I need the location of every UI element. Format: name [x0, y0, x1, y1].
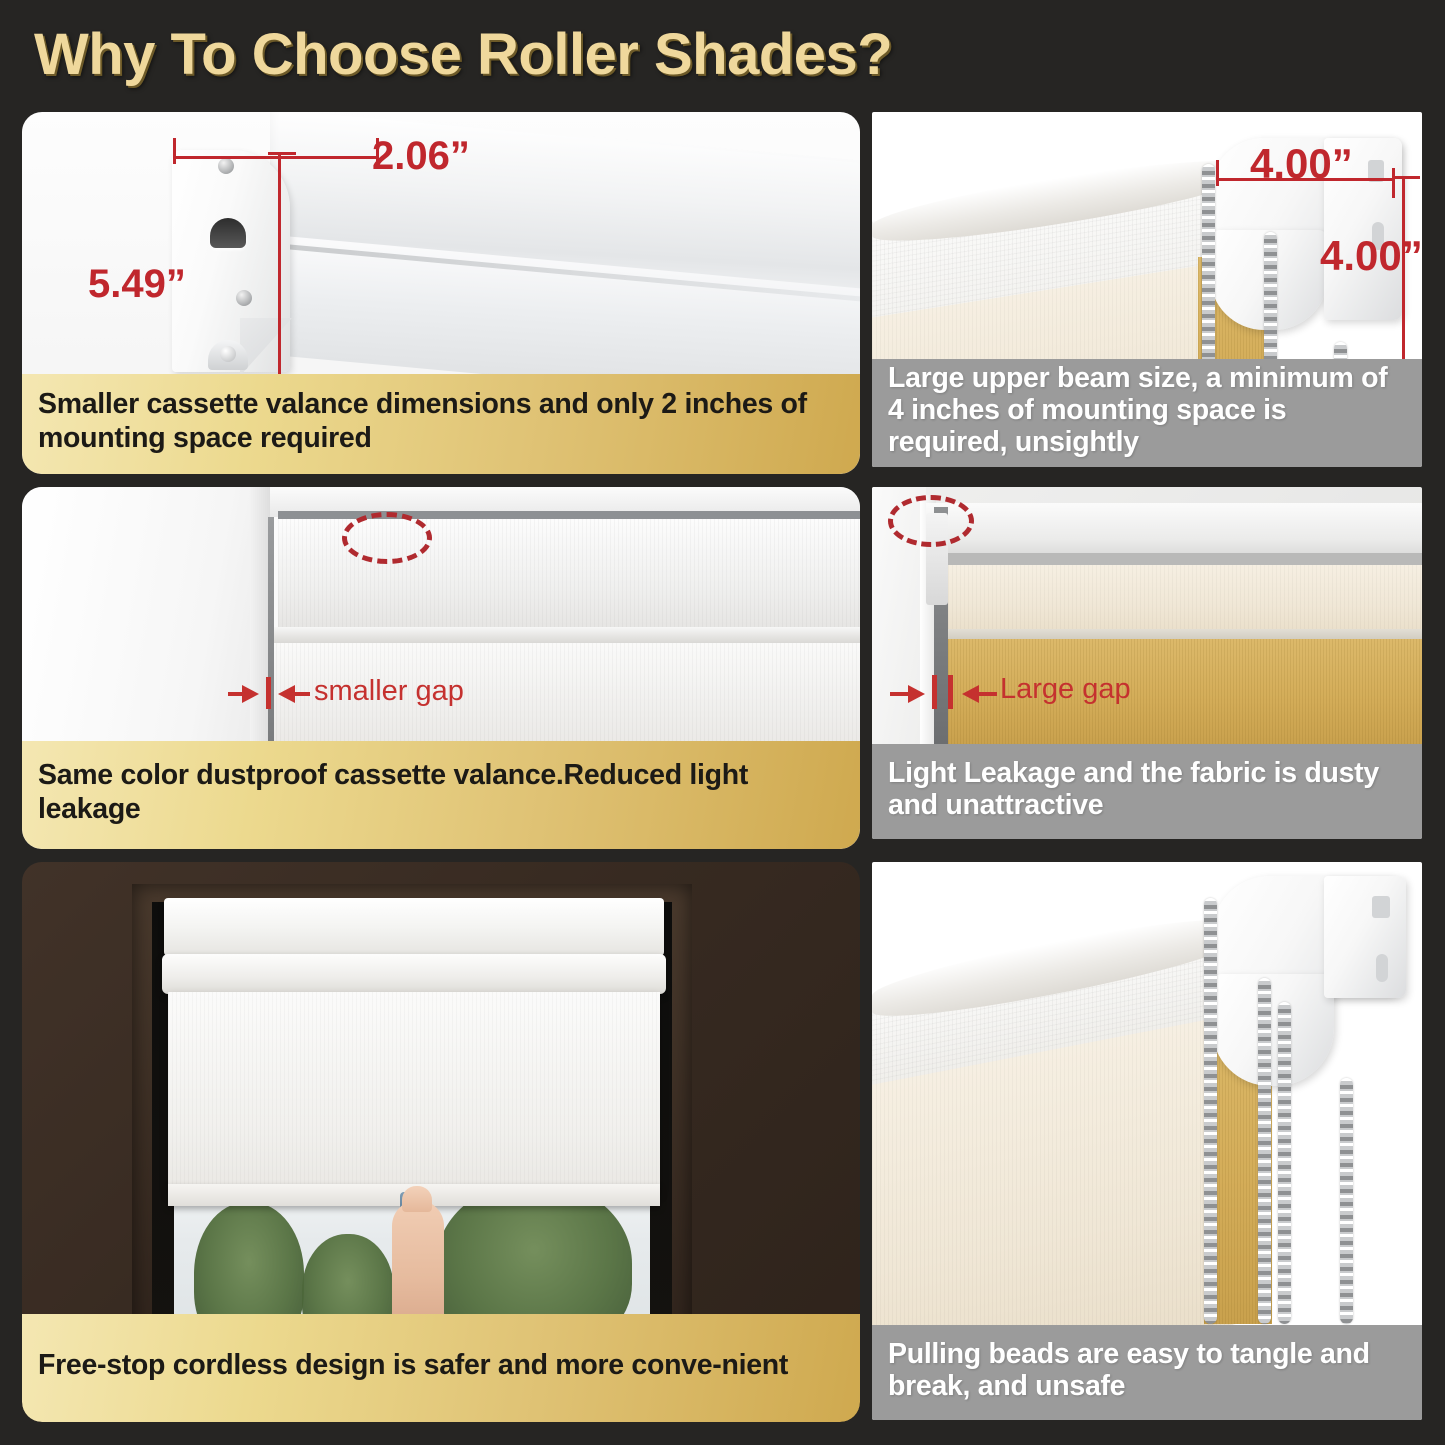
gap-arrow-left	[242, 685, 259, 703]
beam-height-tick-top	[1392, 176, 1420, 179]
gap-arrow-right	[962, 685, 979, 703]
beam-width-tick-right	[1392, 168, 1395, 198]
shade-fabric	[168, 992, 660, 1192]
caption-text: Free-stop cordless design is safer and m…	[38, 1349, 788, 1383]
caption-text: Same color dustproof cassette valance.Re…	[38, 759, 844, 826]
cream-fabric-band	[948, 565, 1422, 633]
caption-text: Pulling beads are easy to tangle and bre…	[888, 1339, 1406, 1403]
caption-text: Large upper beam size, a minimum of 4 in…	[888, 363, 1406, 459]
height-dimension-label: 5.49”	[88, 262, 186, 307]
shade-rail	[162, 954, 666, 994]
gap-arrow-left-stem	[890, 692, 910, 696]
beam-width-tick-left	[1216, 160, 1219, 186]
comparison-grid: 2.06” 5.49” Smaller cassette valance dim…	[0, 0, 1445, 1445]
gap-arrow-left	[908, 685, 925, 703]
caption-text: Light Leakage and the fabric is dusty an…	[888, 758, 1406, 822]
width-dimension-line	[174, 156, 378, 159]
gap-arrow-right-stem	[294, 692, 310, 696]
caption-con-large-upper-beam: Large upper beam size, a minimum of 4 in…	[872, 359, 1422, 467]
panel-pro-cassette-dimensions: 2.06” 5.49” Smaller cassette valance dim…	[22, 112, 860, 474]
width-dimension-label: 2.06”	[372, 134, 470, 179]
panel-con-pulling-beads: Pulling beads are easy to tangle and bre…	[872, 862, 1422, 1420]
bead-chain-left	[1204, 898, 1217, 1324]
seam-highlight-ellipse	[342, 512, 432, 564]
caption-con-light-leakage: Light Leakage and the fabric is dusty an…	[872, 744, 1422, 839]
gap-callout-label: smaller gap	[314, 675, 464, 708]
cassette-valance	[164, 898, 664, 956]
panel-con-light-leakage: Large gap Light Leakage and the fabric i…	[872, 487, 1422, 839]
beam-width-dimension-label: 4.00”	[1250, 140, 1353, 188]
bead-chain-tail	[1340, 1078, 1353, 1324]
width-dimension-tick-left	[173, 138, 176, 164]
bead-chain-middle	[1258, 978, 1271, 1324]
beam-height-dimension-label: 4.00”	[1320, 232, 1422, 280]
roller-bracket-lower	[1212, 974, 1334, 1086]
caption-con-pulling-beads: Pulling beads are easy to tangle and bre…	[872, 1325, 1422, 1420]
caption-pro-cassette-dimensions: Smaller cassette valance dimensions and …	[22, 374, 860, 474]
panel-pro-cordless-design: Free-stop cordless design is safer and m…	[22, 862, 860, 1422]
gap-arrow-right-stem	[979, 692, 997, 696]
gap-arrow-right	[278, 685, 295, 703]
bracket-wall-plate	[1324, 876, 1406, 998]
gap-callout-label: Large gap	[1000, 673, 1131, 706]
panel-con-large-upper-beam: 4.00” 4.00” Large upper beam size, a min…	[872, 112, 1422, 467]
gap-marker-bar-outer	[932, 675, 937, 709]
gap-marker-bar-inner	[948, 675, 953, 709]
gap-marker-bar	[266, 677, 271, 709]
bead-chain-inner	[1278, 1002, 1291, 1324]
gap-arrow-left-stem	[228, 692, 244, 696]
panel-pro-smaller-gap: smaller gap Same color dustproof cassett…	[22, 487, 860, 849]
caption-text: Smaller cassette valance dimensions and …	[38, 388, 844, 455]
caption-pro-smaller-gap: Same color dustproof cassette valance.Re…	[22, 741, 860, 849]
exposed-bracket-ellipse	[888, 495, 974, 547]
caption-pro-cordless-design: Free-stop cordless design is safer and m…	[22, 1314, 860, 1422]
hand-pulling-shade	[392, 1200, 444, 1330]
height-dimension-tick-top	[268, 152, 296, 155]
